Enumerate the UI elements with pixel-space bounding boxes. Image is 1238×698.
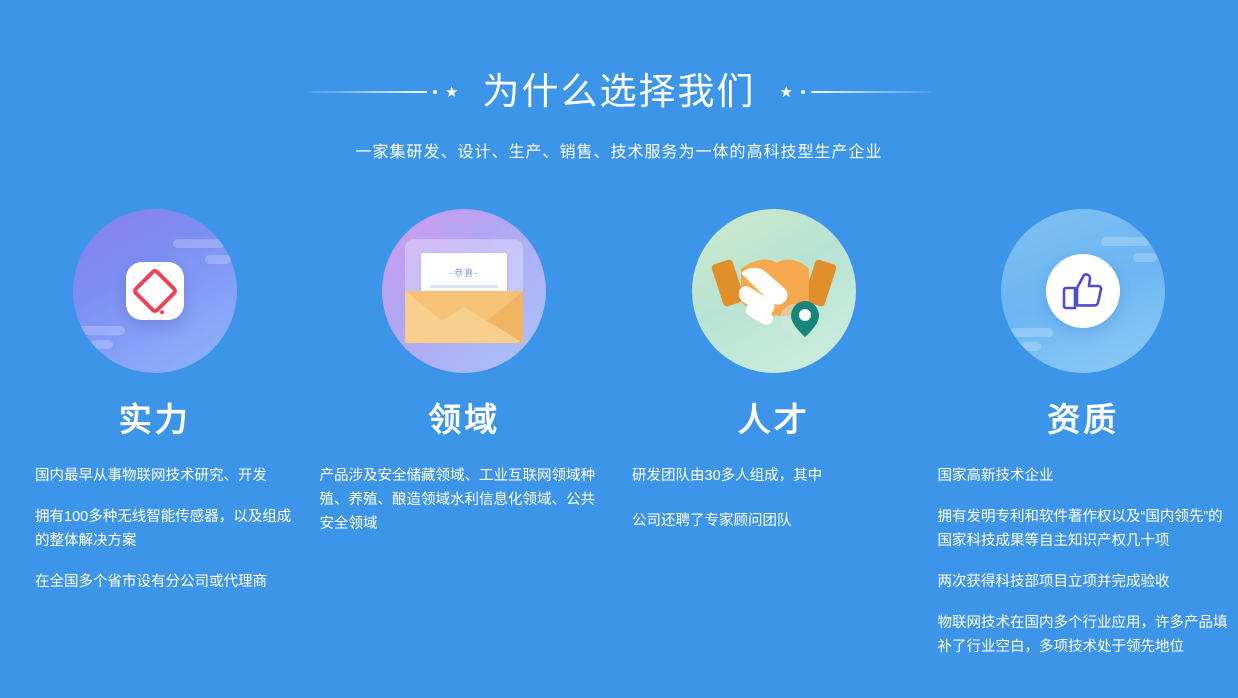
star-icon-left: ★: [445, 85, 458, 100]
column-body-talent: 研发团队由30多人组成，其中 公司还聘了专家顾问团队: [619, 464, 929, 533]
decorative-streak: [91, 340, 113, 349]
feature-text: 两次获得科技部项目立项并完成验收: [938, 570, 1231, 594]
feature-text: 国家高新技术企业: [938, 464, 1231, 488]
feature-column-qualification: 资质 国家高新技术企业 拥有发明专利和软件著作权以及“国内领先”的国家科技成果等…: [929, 196, 1238, 676]
feature-text: 拥有发明专利和软件著作权以及“国内领先”的国家科技成果等自主知识产权几十项: [938, 505, 1231, 553]
feature-column-talent: 人才 研发团队由30多人组成，其中 公司还聘了专家顾问团队: [619, 196, 929, 676]
section-header: ★ 为什么选择我们 ★ 一家集研发、设计、生产、销售、技术服务为一体的高科技型生…: [0, 0, 1238, 162]
column-title-talent: 人才: [619, 398, 929, 442]
diamond-shape: [131, 267, 179, 315]
feature-text: 拥有100多种无线智能传感器，以及组成的整体解决方案: [35, 505, 298, 553]
column-title-strength: 实力: [0, 398, 310, 442]
feature-text: 公司还聘了专家顾问团队: [632, 509, 917, 533]
column-body-fields: 产品涉及安全储藏领域、工业互联网领域种殖、养殖、酿造领域水利信息化领域、公共安全…: [310, 464, 620, 536]
column-body-strength: 国内最早从事物联网技术研究、开发 拥有100多种无线智能传感器，以及组成的整体解…: [0, 464, 310, 594]
letter-text: -恭喜-: [421, 266, 507, 279]
title-decoration-left: ★: [307, 85, 460, 100]
handshake-icon: [711, 243, 837, 339]
decorative-streak: [205, 255, 231, 264]
column-body-qualification: 国家高新技术企业 拥有发明专利和软件著作权以及“国内领先”的国家科技成果等自主知…: [929, 464, 1238, 659]
icon-container-strength: [0, 196, 310, 386]
icon-circle-strength: [73, 209, 237, 373]
page-subtitle: 一家集研发、设计、生产、销售、技术服务为一体的高科技型生产企业: [0, 138, 1238, 162]
column-title-fields: 领域: [310, 398, 620, 442]
envelope-letter-icon: -恭喜-: [401, 239, 527, 343]
title-decoration-right: ★: [778, 85, 931, 100]
thumbs-up-icon: [1060, 268, 1106, 314]
icon-circle-qualification: [1001, 209, 1165, 373]
diamond-badge-icon: [126, 262, 184, 320]
feature-columns: 实力 国内最早从事物联网技术研究、开发 拥有100多种无线智能传感器，以及组成的…: [0, 196, 1238, 676]
icon-circle-talent: [692, 209, 856, 373]
decorative-streak: [1021, 342, 1041, 351]
decorative-streak: [1101, 237, 1151, 246]
decorative-streak: [79, 326, 125, 335]
decoration-line-right: [811, 91, 931, 93]
feature-text: 物联网技术在国内多个行业应用，许多产品填补了行业空白，多项技术处于领先地位: [938, 611, 1231, 659]
icon-container-fields: -恭喜-: [310, 196, 620, 386]
icon-container-talent: [619, 196, 929, 386]
decorative-streak: [1133, 253, 1157, 262]
letter-line: [430, 285, 498, 288]
decorative-streak: [1009, 328, 1053, 337]
feature-text: 研发团队由30多人组成，其中: [632, 464, 917, 488]
icon-circle-fields: -恭喜-: [382, 209, 546, 373]
feature-text: 国内最早从事物联网技术研究、开发: [35, 464, 298, 488]
feature-column-strength: 实力 国内最早从事物联网技术研究、开发 拥有100多种无线智能传感器，以及组成的…: [0, 196, 310, 676]
star-icon-right: ★: [780, 85, 793, 100]
feature-text: 在全国多个省市设有分公司或代理商: [35, 570, 298, 594]
icon-container-qualification: [929, 196, 1238, 386]
feature-text: 产品涉及安全储藏领域、工业互联网领域种殖、养殖、酿造领域水利信息化领域、公共安全…: [320, 464, 608, 536]
decorative-streak: [173, 239, 225, 248]
feature-column-fields: -恭喜- 领域 产品涉及安全储藏领域、工业互联网领域种殖、养殖、酿造领域水利信息…: [310, 196, 620, 676]
page-title: 为什么选择我们: [461, 62, 778, 122]
decoration-dot-left: [433, 90, 437, 94]
column-title-qualification: 资质: [929, 398, 1238, 442]
title-row: ★ 为什么选择我们 ★: [0, 62, 1238, 122]
thumbs-up-badge: [1046, 254, 1120, 328]
decoration-line-left: [307, 91, 427, 93]
decoration-dot-right: [801, 90, 805, 94]
